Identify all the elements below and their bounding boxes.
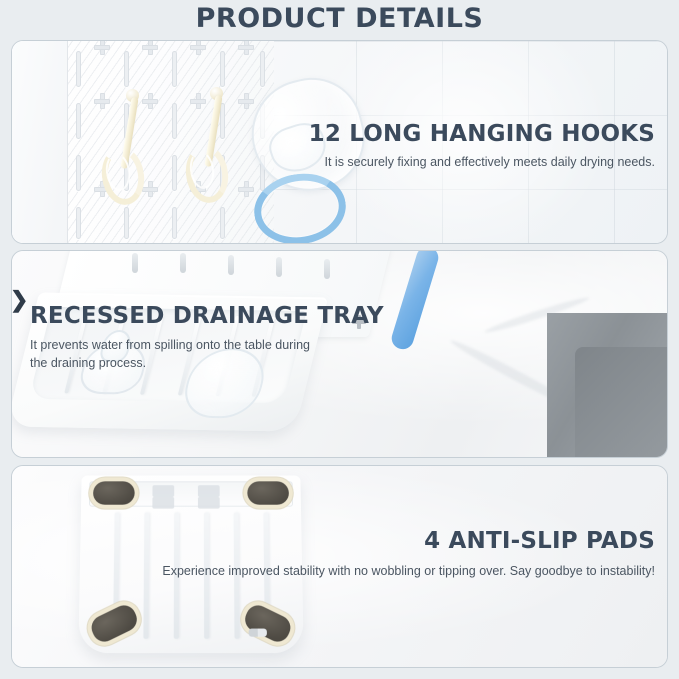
peg-slot [172,51,177,87]
anti-slip-pad-top-left [93,481,135,504]
peg-slot [172,155,177,191]
peg-cross-hole [190,41,206,55]
peg-cross-hole [238,41,254,55]
mold-marking [152,485,174,497]
peg-slot [172,207,177,239]
peg-cross-hole [238,93,254,109]
peg-cross-hole [142,41,158,55]
peg-slot [76,155,81,191]
anti-slip-pads-headline: 4 ANTI-SLIP PADS [162,528,655,554]
mold-marking [152,497,174,509]
peg-cross-hole [94,41,110,55]
sink-basin [575,347,667,457]
peg-slot [76,207,81,239]
feature-panel-anti-slip-pads: 4 ANTI-SLIP PADS Experience improved sta… [11,465,668,668]
feature-panel-hooks: 12 LONG HANGING HOOKS It is securely fix… [11,40,668,244]
pegboard-side-edge [12,41,68,243]
underside-rib [143,513,149,639]
rack-prong [132,253,138,273]
peg-slot [124,207,129,239]
peg-slot [76,103,81,139]
peg-slot [124,51,129,87]
mold-marking [198,485,220,497]
peg-slot [220,207,225,239]
mold-marking [198,497,220,509]
anti-slip-pads-subtext: Experience improved stability with no wo… [162,563,655,581]
anti-slip-pad-top-right [247,481,289,504]
rack-prong [324,259,330,279]
anti-slip-pads-text-block: 4 ANTI-SLIP PADS Experience improved sta… [162,528,655,581]
page-title: PRODUCT DETAILS [0,0,679,38]
hanging-hook [184,87,230,195]
peg-slot [220,51,225,87]
anti-slip-pad-bottom-left [88,601,141,645]
brand-mark [249,629,267,637]
rack-prong [180,253,186,273]
pointer-arrow-icon: ❯ [12,289,32,311]
drainage-tray-headline: RECESSED DRAINAGE TRAY [30,303,384,329]
peg-slot [172,103,177,139]
peg-slot [260,51,265,87]
rack-prong [276,257,282,277]
hooks-headline: 12 LONG HANGING HOOKS [309,121,655,147]
peg-slot [76,51,81,87]
hooks-text-block: 12 LONG HANGING HOOKS It is securely fix… [309,121,655,172]
rack-prong [228,255,234,275]
hanging-hook [100,89,146,197]
drainage-tray-subtext: It prevents water from spilling onto the… [30,337,320,373]
anti-slip-pad-bottom-right [241,601,294,645]
feature-panel-drainage-tray: ❯ RECESSED DRAINAGE TRAY It prevents wat… [11,250,668,458]
hooks-subtext: It is securely fixing and effectively me… [309,154,655,172]
drainage-tray-text-block: RECESSED DRAINAGE TRAY It prevents water… [30,303,384,373]
peg-cross-hole [238,181,254,197]
